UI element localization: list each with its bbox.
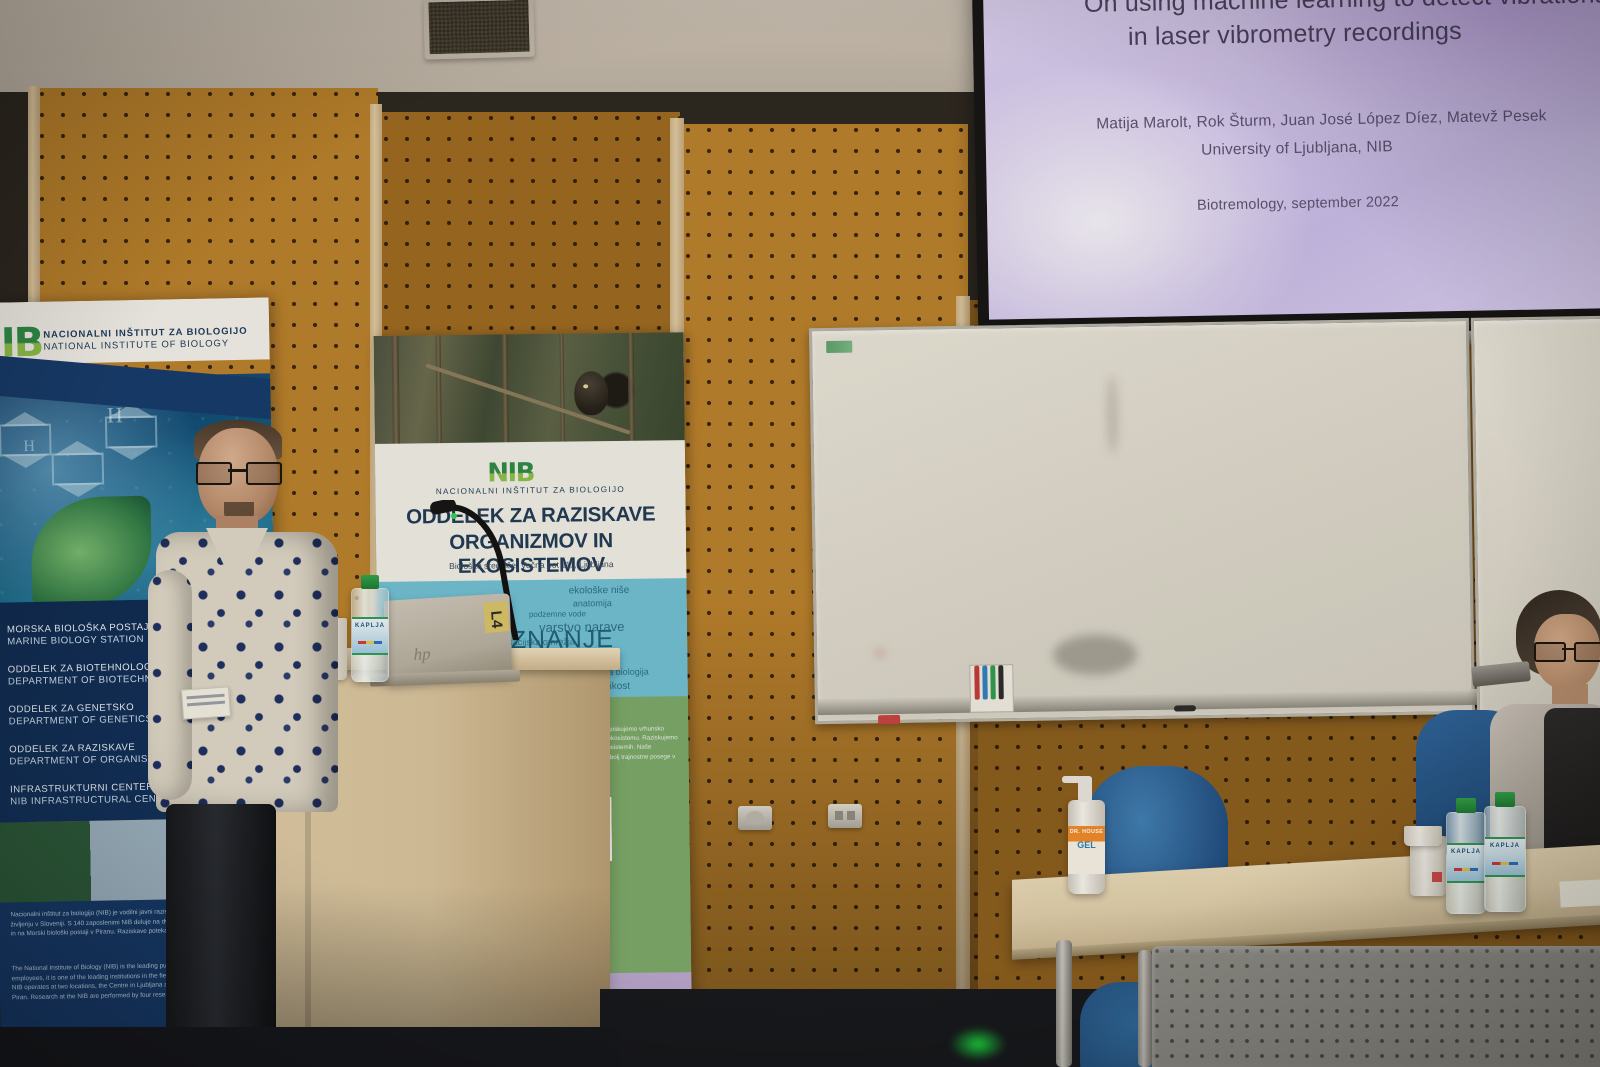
bottle-brand-label: KAPLJA (1447, 849, 1485, 855)
marker-green-icon[interactable] (990, 665, 996, 699)
slide-affiliation: University of Ljubljana, NIB (986, 134, 1600, 163)
whiteboard-brand-logo (826, 341, 852, 353)
bottle-label-1: KAPLJA (1447, 843, 1485, 883)
slide-event: Biotremology, september 2022 (987, 190, 1600, 217)
sanitizer-product-label: GEL (1068, 840, 1105, 850)
laptop-sticker-label: L4 (487, 610, 505, 629)
laptop-sticker: L4 (483, 601, 509, 633)
water-bottle-table-2[interactable]: KAPLJA (1484, 806, 1526, 912)
bottle-cap-icon (1495, 792, 1515, 807)
nib-logo-mid: NIB (487, 458, 534, 489)
bottle-label-podium: KAPLJA (352, 617, 388, 655)
water-bottle-podium[interactable]: KAPLJA (351, 588, 389, 682)
eraser-icon[interactable] (878, 715, 900, 724)
whiteboard-tray (818, 689, 1478, 715)
ceiling-speaker-icon (423, 0, 535, 59)
cup-mark (1432, 872, 1442, 882)
bottle-stripe (1454, 868, 1478, 871)
slide-title-line-2: in laser vibrometry recordings (984, 14, 1600, 54)
hand-sanitizer-bottle[interactable]: DR. HOUSE GEL (1068, 800, 1105, 894)
glasses-icon (196, 462, 280, 481)
slide-authors: Matija Marolt, Rok Šturm, Juan José Lópe… (1025, 106, 1600, 135)
paper-sheet[interactable] (1559, 878, 1600, 907)
bottle-brand-label: KAPLJA (1485, 843, 1525, 849)
bottle-cap-icon (1456, 798, 1476, 813)
bottle-brand-label: KAPLJA (352, 623, 388, 629)
glasses-icon (1534, 642, 1600, 659)
table-modesty-panel (1152, 946, 1600, 1067)
marker-red-icon[interactable] (974, 666, 980, 700)
owl-icon (574, 371, 609, 415)
whiteboard-smudge (1053, 634, 1138, 675)
marker-box[interactable] (969, 664, 1014, 713)
whiteboard-streak (1107, 374, 1118, 454)
nib-logo-sub-mid: NACIONALNI INŠTITUT ZA BIOLOGIJO (375, 484, 685, 497)
laptop-brand-label: hp (413, 644, 431, 665)
whiteboard-panel-left[interactable] (809, 318, 1475, 724)
bottle-stripe (358, 641, 381, 644)
bottle-cap-icon (361, 575, 379, 589)
green-light-flare (950, 1027, 1006, 1061)
floor-left (0, 1027, 620, 1067)
marker-on-tray-icon[interactable] (1174, 705, 1196, 711)
marker-black-icon[interactable] (998, 665, 1004, 699)
table-leg-front (1056, 940, 1072, 1067)
speaker-person (120, 420, 350, 1067)
paper-cup-table-stacked[interactable] (1404, 826, 1442, 846)
sanitizer-label: DR. HOUSE GEL (1068, 826, 1105, 874)
sanitizer-nozzle-icon (1062, 776, 1082, 783)
banner-left-header: NIB NACIONALNI INŠTITUT ZA BIOLOGIJO NAT… (0, 297, 270, 364)
power-socket-icon[interactable] (738, 806, 772, 830)
molecule-label: H (23, 438, 35, 456)
marker-blue-icon[interactable] (982, 666, 988, 700)
banner-mid-forest-photo (374, 332, 685, 446)
sanitizer-brand-label: DR. HOUSE (1068, 829, 1105, 835)
whiteboard-red-dot (877, 650, 883, 656)
projection-screen: ...shaking? On using machine learning to… (972, 0, 1600, 342)
hex-icon (52, 453, 105, 486)
presentation-slide: ...shaking? On using machine learning to… (983, 0, 1600, 320)
lecture-room-photo: ...shaking? On using machine learning to… (0, 0, 1600, 1067)
nib-subtitle-en: NATIONAL INSTITUTE OF BIOLOGY (43, 338, 229, 353)
network-port-icon[interactable] (828, 804, 862, 828)
name-badge (181, 686, 231, 719)
table-leg-back (1138, 950, 1152, 1067)
cloud-word-4: anatomija (573, 598, 612, 608)
whiteboard[interactable] (809, 316, 1600, 724)
speaker-arm (148, 570, 192, 800)
bottle-label-2: KAPLJA (1485, 837, 1525, 877)
bottle-stripe (1492, 862, 1518, 865)
cloud-word-3: ekološke niše (569, 585, 630, 597)
water-bottle-table-1[interactable]: KAPLJA (1446, 812, 1486, 914)
